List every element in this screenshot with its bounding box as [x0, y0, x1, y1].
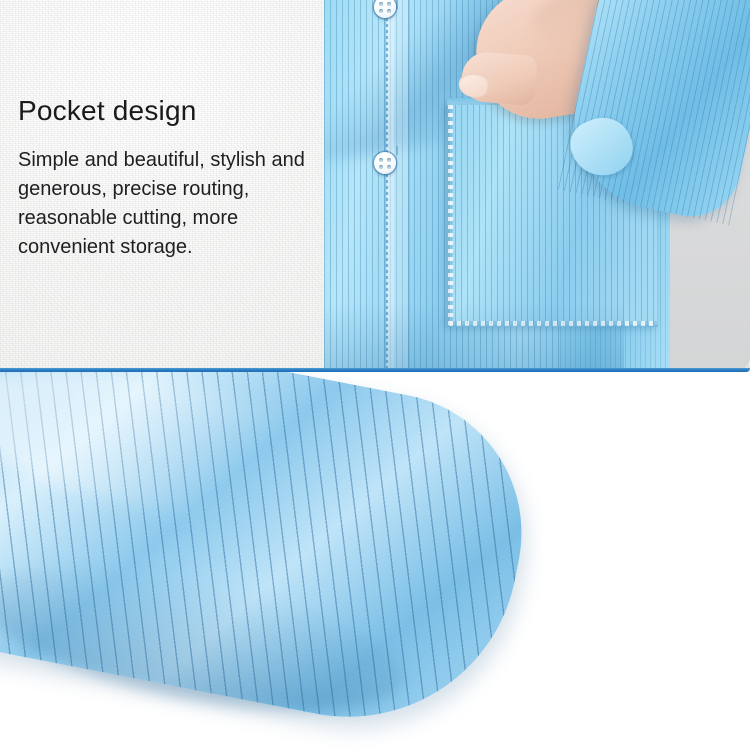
- trousers-design-panel: Trousers design The elastic closing desi…: [0, 372, 750, 750]
- pocket-design-heading: Pocket design: [18, 96, 318, 127]
- product-image-canvas: Pocket design Simple and beautiful, styl…: [0, 0, 750, 750]
- pocket-left-stitching: [448, 105, 453, 325]
- button-thread-top: [396, 0, 398, 9]
- pocket-design-text-block: Pocket design Simple and beautiful, styl…: [18, 96, 318, 262]
- button-thread-lower: [396, 146, 398, 155]
- trouser-leg: [0, 372, 546, 746]
- jacket-photo: [324, 0, 750, 372]
- pocket-design-body: Simple and beautiful, stylish and genero…: [18, 146, 318, 262]
- placket-button-lower: [374, 152, 396, 174]
- bottom-gradient-shadow: [324, 302, 624, 372]
- pocket-design-panel: Pocket design Simple and beautiful, styl…: [0, 0, 750, 372]
